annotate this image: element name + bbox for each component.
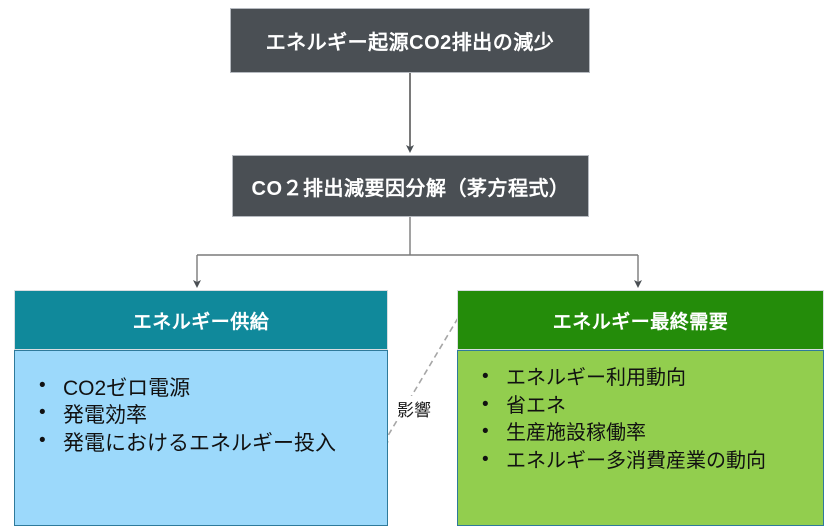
list-item: エネルギー多消費産業の動向 — [480, 448, 813, 476]
process-box-kaya-identity[interactable]: CO２排出減要因分解（茅方程式） — [232, 155, 589, 217]
card-energy-supply-header: エネルギー供給 — [14, 290, 388, 350]
list-item: 発電におけるエネルギー投入 — [37, 430, 377, 457]
card-energy-supply[interactable]: エネルギー供給 CO2ゼロ電源 発電効率 発電におけるエネルギー投入 — [14, 290, 388, 526]
diagram-canvas: エネルギー起源CO2排出の減少 CO２排出減要因分解（茅方程式） エネルギー供給… — [0, 0, 835, 531]
card-energy-final-demand-header: エネルギー最終需要 — [457, 290, 824, 350]
process-box-kaya-identity-label: CO２排出減要因分解（茅方程式） — [252, 172, 570, 201]
influence-connector-label: 影響 — [396, 396, 432, 421]
demand-bullet-list: エネルギー利用動向 省エネ 生産施設稼働率 エネルギー多消費産業の動向 — [480, 365, 813, 475]
list-item: 発電効率 — [37, 402, 377, 429]
list-item: 生産施設稼働率 — [480, 420, 813, 448]
supply-bullet-list: CO2ゼロ電源 発電効率 発電におけるエネルギー投入 — [37, 375, 377, 457]
card-energy-final-demand-body: エネルギー利用動向 省エネ 生産施設稼働率 エネルギー多消費産業の動向 — [457, 350, 824, 526]
process-box-co2-reduction[interactable]: エネルギー起源CO2排出の減少 — [230, 8, 590, 73]
connector-influence-dashed — [383, 318, 458, 444]
process-box-co2-reduction-label: エネルギー起源CO2排出の減少 — [266, 26, 555, 55]
card-energy-final-demand-title: エネルギー最終需要 — [553, 307, 729, 334]
list-item: エネルギー利用動向 — [480, 365, 813, 393]
connector-kaya-fork — [197, 217, 638, 255]
card-energy-supply-title: エネルギー供給 — [133, 307, 270, 334]
list-item: CO2ゼロ電源 — [37, 375, 377, 402]
list-item: 省エネ — [480, 393, 813, 421]
card-energy-final-demand[interactable]: エネルギー最終需要 エネルギー利用動向 省エネ 生産施設稼働率 エネルギー多消費… — [457, 290, 824, 526]
card-energy-supply-body: CO2ゼロ電源 発電効率 発電におけるエネルギー投入 — [14, 350, 388, 526]
